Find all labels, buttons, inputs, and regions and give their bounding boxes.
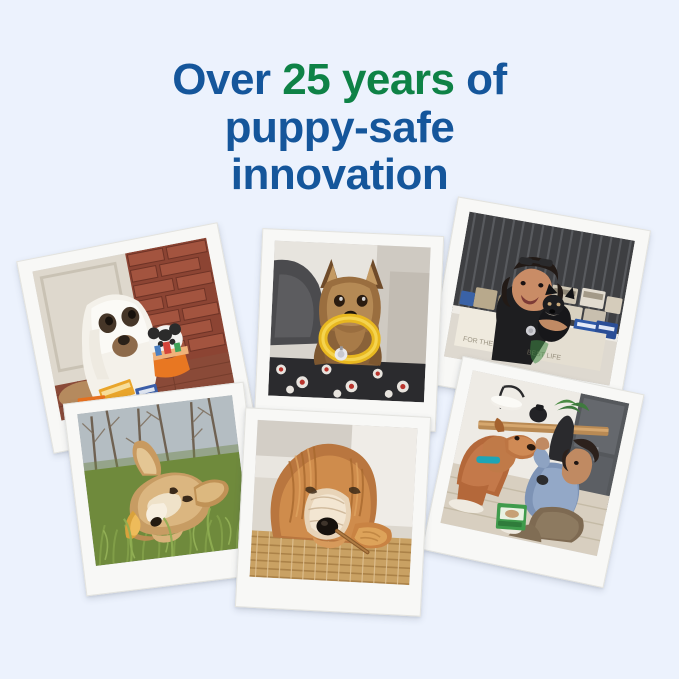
photo-cockapoo-puppy-on-mat: [249, 420, 417, 585]
promotional-banner: Over 25 years of puppy-safe innovation: [0, 0, 679, 679]
polaroid-card-yorkie-yellow-ring-toy: [254, 228, 444, 432]
photo-collage: FOR THE BEST LIFE: [0, 0, 679, 679]
polaroid-card-cockapoo-puppy-on-mat: [235, 407, 431, 616]
photo-yorkie-yellow-ring-toy: [268, 241, 431, 403]
photo-man-training-vizsla: [440, 370, 629, 556]
polaroid-card-man-training-vizsla: [421, 356, 644, 588]
photo-tan-dog-in-grass: [77, 395, 250, 566]
